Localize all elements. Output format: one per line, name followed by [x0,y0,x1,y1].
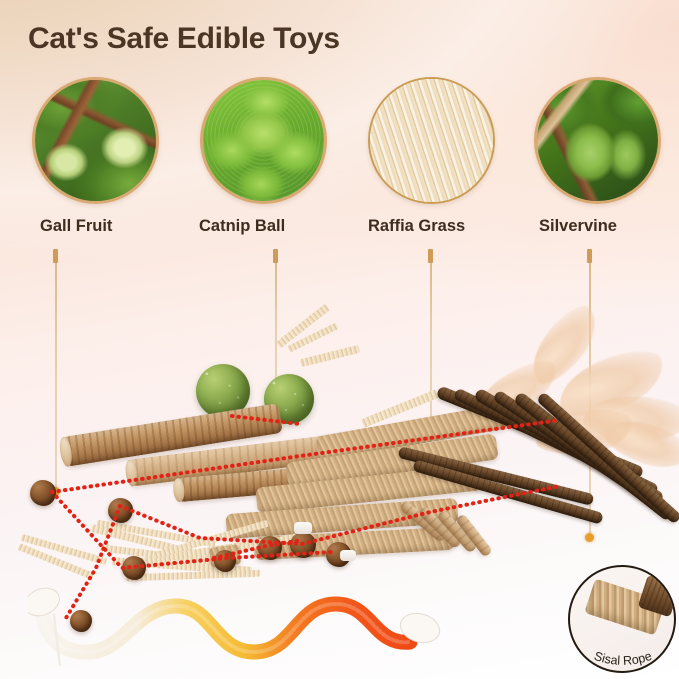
product-infographic: Cat's Safe Edible Toys Gall Fruit Catnip… [0,0,679,679]
raffia-photo-circle [368,77,495,204]
wavy-rope-toy [28,568,460,678]
gall-fruit-photo [35,80,156,201]
page-title: Cat's Safe Edible Toys [28,22,340,56]
toy-spool [294,522,312,534]
feature-raffia-grass: Raffia Grass [368,77,495,204]
stick-cut-end [124,459,138,487]
gall-fruit [258,536,282,560]
toy-spool [340,550,356,561]
inset-label: Sisal Rope [564,633,679,677]
gall-fruit [30,480,56,506]
raffia-grass-photo [370,79,493,202]
feature-label-gall-fruit: Gall Fruit [40,217,112,236]
silvervine-photo [537,80,658,201]
feature-catnip-ball: Catnip Ball [200,77,327,204]
sisal-rope-inset: Sisal Rope [568,565,676,673]
connector-cap-4 [587,249,592,263]
gall-fruit [290,532,316,558]
gall-fruit-photo-circle [32,77,159,204]
feature-label-silvervine: Silvervine [539,217,617,236]
stick-cut-end [58,436,74,467]
connector-cap-1 [53,249,58,263]
feature-label-catnip-ball: Catnip Ball [199,217,285,236]
feature-gall-fruit: Gall Fruit [32,77,159,204]
stick-cut-end [172,478,185,503]
feature-silvervine: Silvervine [534,77,661,204]
connector-cap-2 [273,249,278,263]
catnip-photo-circle [200,77,327,204]
rope-body [42,604,410,652]
inset-label-text: Sisal Rope [592,649,653,668]
catnip-leaves-photo [203,80,324,201]
connector-cap-3 [428,249,433,263]
gall-fruit [108,498,133,523]
feature-label-raffia-grass: Raffia Grass [368,217,465,236]
raffia-strand [300,345,360,367]
silvervine-photo-circle [534,77,661,204]
